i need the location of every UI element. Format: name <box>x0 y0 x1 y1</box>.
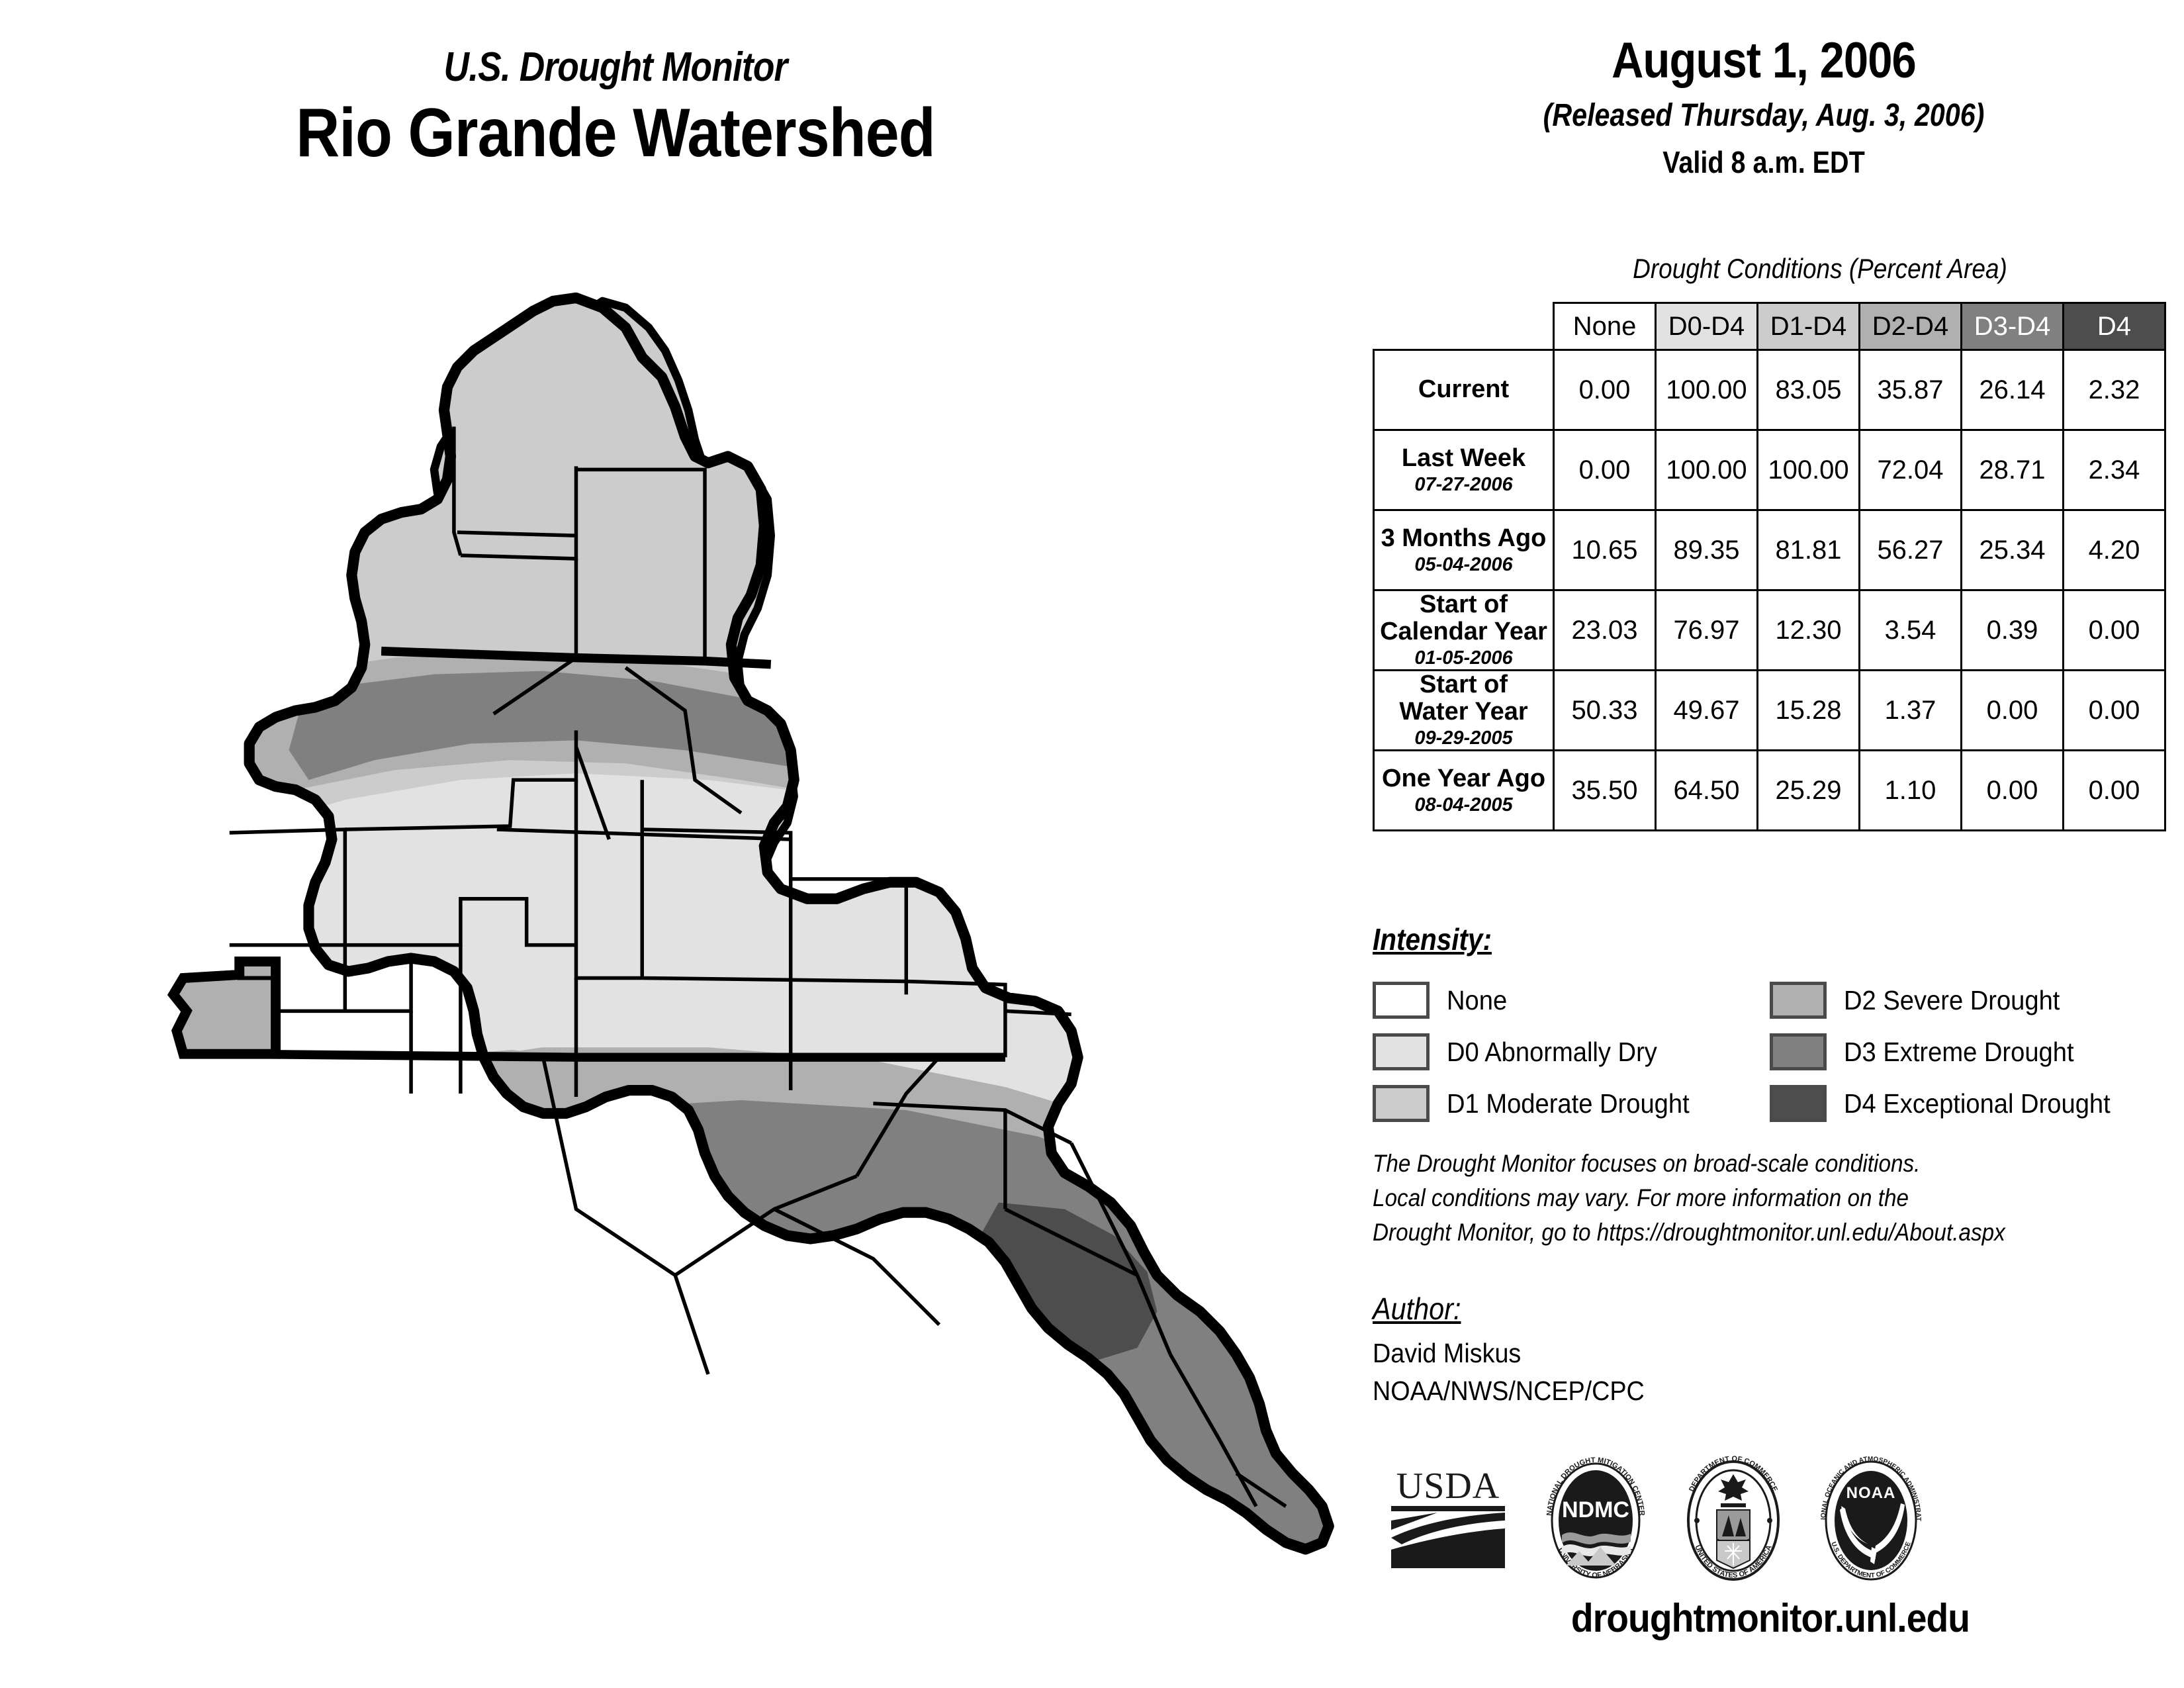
info-panel: August 1, 2006 (Released Thursday, Aug. … <box>1357 0 2184 1688</box>
doc-seal: DEPARTMENT OF COMMERCE UNITED STATES OF … <box>1677 1454 1790 1587</box>
usda-logo-svg: USDA <box>1382 1460 1514 1579</box>
cell-d1-d4: 25.29 <box>1758 751 1860 831</box>
sw-protrusion <box>173 962 276 1055</box>
ndmc-logo-svg: NATIONAL DROUGHT MITIGATION CENTER UNIVE… <box>1539 1454 1652 1584</box>
cell-d4: 0.00 <box>2064 590 2165 671</box>
site-url: droughtmonitor.unl.edu <box>1390 1595 2151 1641</box>
cell-d4: 0.00 <box>2064 671 2165 751</box>
legend-item-d0: D0 Abnormally Dry <box>1373 1026 1770 1078</box>
cell-d2-d4: 35.87 <box>1860 350 1962 430</box>
cell-d1-d4: 83.05 <box>1758 350 1860 430</box>
svg-text:NOAA: NOAA <box>1846 1484 1896 1502</box>
table-header-row: None D0-D4 D1-D4 D2-D4 D3-D4 D4 <box>1374 303 2165 350</box>
agency-logo-row: USDA NATIONAL DROUGHT MITIGATION CENTER <box>1373 1444 2173 1597</box>
legend-item-none: None <box>1373 974 1770 1026</box>
date-released: (Released Thursday, Aug. 3, 2006) <box>1414 97 2114 134</box>
row-label-date: 09-29-2005 <box>1375 728 1553 749</box>
legend-item-d2: D2 Severe Drought <box>1770 974 2173 1026</box>
doc-seal-svg: DEPARTMENT OF COMMERCE UNITED STATES OF … <box>1677 1454 1790 1584</box>
cell-d4: 2.34 <box>2064 430 2165 510</box>
cell-d0-d4: 89.35 <box>1656 510 1758 590</box>
noaa-logo-svg: NATIONAL OCEANIC AND ATMOSPHERIC ADMINIS… <box>1815 1454 1927 1584</box>
row-label-main: One Year Ago <box>1375 765 1553 792</box>
table-row: Last Week 07-27-2006 0.00 100.00 100.00 … <box>1374 430 2165 510</box>
cell-none: 0.00 <box>1554 350 1656 430</box>
cell-d3-d4: 0.00 <box>1962 671 2064 751</box>
legend-label-d0: D0 Abnormally Dry <box>1447 1037 1657 1068</box>
program-title: U.S. Drought Monitor <box>86 46 1145 88</box>
row-label-date: 01-05-2006 <box>1375 648 1553 669</box>
disclaimer-line-3: Drought Monitor, go to https://droughtmo… <box>1373 1215 2093 1250</box>
row-label-current: Current <box>1374 350 1554 430</box>
cell-d1-d4: 12.30 <box>1758 590 1860 671</box>
legend-item-d3: D3 Extreme Drought <box>1770 1026 2173 1078</box>
usda-logo: USDA <box>1382 1460 1514 1582</box>
cell-d4: 4.20 <box>2064 510 2165 590</box>
row-label-date: 05-04-2006 <box>1375 555 1553 575</box>
cell-d4: 0.00 <box>2064 751 2165 831</box>
legend-item-d4: D4 Exceptional Drought <box>1770 1078 2173 1129</box>
cell-none: 0.00 <box>1554 430 1656 510</box>
author-title: Author: <box>1373 1291 1461 1327</box>
cell-d0-d4: 49.67 <box>1656 671 1758 751</box>
disclaimer-text: The Drought Monitor focuses on broad-sca… <box>1373 1147 2093 1249</box>
author-name: David Miskus <box>1373 1335 1645 1372</box>
cell-none: 35.50 <box>1554 751 1656 831</box>
row-label-start-water-year: Start ofWater Year 09-29-2005 <box>1374 671 1554 751</box>
row-label-main: Last Week <box>1375 445 1553 472</box>
map-panel: U.S. Drought Monitor Rio Grande Watershe… <box>0 0 1357 1688</box>
col-header-d2-d4: D2-D4 <box>1860 303 1962 350</box>
cell-none: 23.03 <box>1554 590 1656 671</box>
noaa-logo: NATIONAL OCEANIC AND ATMOSPHERIC ADMINIS… <box>1815 1454 1927 1587</box>
legend-swatch-d3 <box>1770 1033 1827 1070</box>
row-label-main: Start ofWater Year <box>1375 671 1553 726</box>
table-caption: Drought Conditions (Percent Area) <box>1529 253 2111 285</box>
cell-d2-d4: 72.04 <box>1860 430 1962 510</box>
state-line-nm-tx <box>230 1054 1005 1057</box>
title-block: U.S. Drought Monitor Rio Grande Watershe… <box>0 46 1231 169</box>
legend-swatch-d0 <box>1373 1033 1430 1070</box>
author-block: David Miskus NOAA/NWS/NCEP/CPC <box>1373 1335 1645 1409</box>
date-main: August 1, 2006 <box>1406 32 2122 89</box>
legend-swatch-none <box>1373 982 1430 1019</box>
drought-conditions-table: None D0-D4 D1-D4 D2-D4 D3-D4 D4 Current … <box>1373 302 2164 831</box>
legend-label-none: None <box>1447 985 1507 1016</box>
row-label-last-week: Last Week 07-27-2006 <box>1374 430 1554 510</box>
cell-d1-d4: 100.00 <box>1758 430 1860 510</box>
region-title: Rio Grande Watershed <box>74 97 1158 169</box>
col-header-none: None <box>1554 303 1656 350</box>
legend-swatch-d1 <box>1373 1085 1430 1122</box>
intensity-legend-title: Intensity: <box>1373 921 1492 957</box>
col-header-d4: D4 <box>2064 303 2165 350</box>
disclaimer-line-1: The Drought Monitor focuses on broad-sca… <box>1373 1147 2093 1181</box>
table-corner-cell <box>1374 303 1554 350</box>
table-row: One Year Ago 08-04-2005 35.50 64.50 25.2… <box>1374 751 2165 831</box>
watershed-map-svg[interactable] <box>79 285 1337 1655</box>
table-row: Current 0.00 100.00 83.05 35.87 26.14 2.… <box>1374 350 2165 430</box>
cell-d3-d4: 25.34 <box>1962 510 2064 590</box>
col-header-d3-d4: D3-D4 <box>1962 303 2064 350</box>
cell-none: 10.65 <box>1554 510 1656 590</box>
watershed-map[interactable] <box>79 285 1337 1655</box>
cell-none: 50.33 <box>1554 671 1656 751</box>
cell-d2-d4: 1.10 <box>1860 751 1962 831</box>
ndmc-logo: NATIONAL DROUGHT MITIGATION CENTER UNIVE… <box>1539 1454 1652 1587</box>
author-affiliation: NOAA/NWS/NCEP/CPC <box>1373 1372 1645 1410</box>
table-row: Start ofCalendar Year 01-05-2006 23.03 7… <box>1374 590 2165 671</box>
row-label-one-year-ago: One Year Ago 08-04-2005 <box>1374 751 1554 831</box>
cell-d3-d4: 26.14 <box>1962 350 2064 430</box>
svg-text:USDA: USDA <box>1396 1466 1500 1507</box>
cell-d1-d4: 81.81 <box>1758 510 1860 590</box>
legend-label-d4: D4 Exceptional Drought <box>1844 1088 2111 1119</box>
cell-d3-d4: 0.00 <box>1962 751 2064 831</box>
row-label-3-months-ago: 3 Months Ago 05-04-2006 <box>1374 510 1554 590</box>
row-label-main: Start ofCalendar Year <box>1375 591 1553 645</box>
cell-d4: 2.32 <box>2064 350 2165 430</box>
date-block: August 1, 2006 (Released Thursday, Aug. … <box>1357 32 2171 180</box>
row-label-main: Current <box>1375 376 1553 403</box>
svg-text:NDMC: NDMC <box>1562 1497 1629 1523</box>
disclaimer-line-2: Local conditions may vary. For more info… <box>1373 1181 2093 1215</box>
row-label-start-calendar-year: Start ofCalendar Year 01-05-2006 <box>1374 590 1554 671</box>
legend-swatch-d4 <box>1770 1085 1827 1122</box>
row-label-main: 3 Months Ago <box>1375 525 1553 552</box>
col-header-d1-d4: D1-D4 <box>1758 303 1860 350</box>
legend-label-d3: D3 Extreme Drought <box>1844 1037 2074 1068</box>
cell-d0-d4: 76.97 <box>1656 590 1758 671</box>
cell-d0-d4: 100.00 <box>1656 430 1758 510</box>
legend-label-d2: D2 Severe Drought <box>1844 985 2060 1016</box>
cell-d3-d4: 0.39 <box>1962 590 2064 671</box>
cell-d0-d4: 100.00 <box>1656 350 1758 430</box>
legend-swatch-d2 <box>1770 982 1827 1019</box>
table-row: Start ofWater Year 09-29-2005 50.33 49.6… <box>1374 671 2165 751</box>
col-header-d0-d4: D0-D4 <box>1656 303 1758 350</box>
legend-item-d1: D1 Moderate Drought <box>1373 1078 1770 1129</box>
legend-label-d1: D1 Moderate Drought <box>1447 1088 1690 1119</box>
row-label-date: 07-27-2006 <box>1375 475 1553 495</box>
shade-d3-south <box>576 1100 1335 1655</box>
cell-d2-d4: 1.37 <box>1860 671 1962 751</box>
cell-d2-d4: 3.54 <box>1860 590 1962 671</box>
table-row: 3 Months Ago 05-04-2006 10.65 89.35 81.8… <box>1374 510 2165 590</box>
intensity-legend: None D2 Severe Drought D0 Abnormally Dry… <box>1373 974 2173 1129</box>
cell-d2-d4: 56.27 <box>1860 510 1962 590</box>
date-valid: Valid 8 a.m. EDT <box>1414 144 2114 180</box>
cell-d1-d4: 15.28 <box>1758 671 1860 751</box>
cell-d3-d4: 28.71 <box>1962 430 2064 510</box>
row-label-date: 08-04-2005 <box>1375 795 1553 816</box>
cell-d0-d4: 64.50 <box>1656 751 1758 831</box>
